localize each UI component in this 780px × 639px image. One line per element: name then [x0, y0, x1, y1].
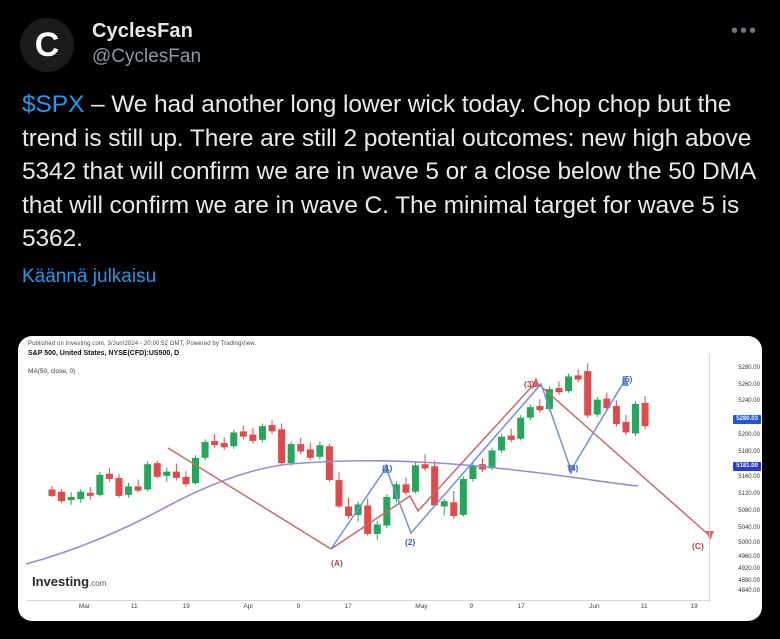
- date-tick-label: 19: [690, 603, 697, 610]
- candle-body: [97, 475, 103, 494]
- candle-body: [202, 443, 208, 458]
- candle-body: [87, 493, 93, 495]
- tweet-header: C CyclesFan @CyclesFan •••: [0, 0, 780, 72]
- candle-body: [106, 474, 112, 478]
- date-axis[interactable]: Mar1119Apr917May917Jun1119: [18, 603, 710, 617]
- date-tick-label: Mar: [79, 603, 90, 610]
- wave-label: (3): [524, 379, 534, 389]
- candle-body: [183, 477, 189, 483]
- translate-post-link[interactable]: Käännä julkaisu: [0, 256, 780, 288]
- wave-label: (A): [331, 558, 343, 568]
- candle-body: [585, 372, 591, 415]
- candle-body: [212, 441, 218, 444]
- candle-body: [78, 492, 84, 498]
- candle-body: [250, 435, 256, 440]
- chart-image[interactable]: Published on Investing.com, 3/Jun/2024 -…: [18, 336, 762, 621]
- candle-body: [326, 447, 332, 480]
- display-name[interactable]: CyclesFan: [92, 20, 731, 43]
- candle-body: [116, 478, 122, 495]
- candle-body: [173, 472, 179, 477]
- wave-label: (4): [568, 463, 578, 473]
- candle-body: [279, 430, 285, 463]
- candle-body: [403, 485, 409, 492]
- cashtag-link[interactable]: $SPX: [22, 91, 84, 118]
- tweet-body-text: – We had another long lower wick today. …: [22, 91, 755, 252]
- avatar[interactable]: C: [20, 18, 74, 72]
- investing-watermark: Investing.com: [32, 574, 106, 589]
- date-tick-label: 11: [641, 603, 648, 610]
- candle-body: [221, 444, 227, 447]
- candle-body: [508, 436, 514, 439]
- price-axis[interactable]: 5280.005260.005240.005280.035200.005180.…: [710, 358, 762, 596]
- price-tick-label: 5181.00: [733, 462, 761, 471]
- price-tick-label: 5080.00: [738, 508, 760, 515]
- candle-body: [441, 502, 447, 506]
- candle-body: [451, 503, 457, 516]
- wave-label: (C): [692, 541, 704, 551]
- candle-body: [594, 400, 600, 414]
- candle-body: [365, 506, 371, 534]
- date-tick-label: 17: [517, 603, 524, 610]
- candle-body: [566, 377, 572, 391]
- date-tick-label: 9: [469, 603, 473, 610]
- candle-body: [575, 376, 581, 379]
- candle-body: [527, 408, 533, 418]
- price-tick-label: 4840.00: [738, 588, 760, 595]
- candle-body: [259, 427, 265, 440]
- price-tick-label: 5240.00: [738, 398, 760, 405]
- tweet-card: C CyclesFan @CyclesFan ••• $SPX – We had…: [0, 0, 780, 639]
- date-tick-label: 9: [296, 603, 300, 610]
- date-tick-label: 17: [344, 603, 351, 610]
- candle-body: [307, 450, 313, 457]
- wave-label: (5): [622, 374, 632, 384]
- candle-body: [269, 426, 275, 431]
- candle-body: [432, 467, 438, 505]
- price-tick-label: 5000.00: [738, 540, 760, 547]
- candle-series: [49, 363, 648, 540]
- date-tick-label: Apr: [243, 603, 253, 610]
- price-tick-label: 5040.00: [738, 525, 760, 532]
- author-names: CyclesFan @CyclesFan: [92, 18, 731, 68]
- date-tick-label: May: [415, 603, 427, 610]
- price-tick-label: 5280.03: [733, 415, 761, 424]
- chart-published-line: Published on Investing.com, 3/Jun/2024 -…: [28, 341, 256, 347]
- candle-body: [231, 433, 237, 446]
- impulse-wave-path: [331, 380, 625, 549]
- candle-body: [145, 465, 151, 489]
- price-tick-label: 5160.00: [738, 474, 760, 481]
- price-tick-label: 5280.00: [738, 365, 760, 372]
- candle-body: [518, 418, 524, 438]
- candle-body: [489, 451, 495, 468]
- price-tick-label: 4960.00: [738, 554, 760, 561]
- candle-body: [346, 507, 352, 515]
- price-tick-label: 4880.00: [738, 578, 760, 585]
- date-axis-divider: [26, 600, 710, 601]
- candle-body: [135, 487, 141, 490]
- candlestick-chart-svg: [18, 336, 762, 621]
- candle-body: [336, 481, 342, 506]
- date-tick-label: 11: [131, 603, 138, 610]
- date-tick-label: 19: [183, 603, 190, 610]
- candle-body: [374, 525, 380, 533]
- candle-body: [59, 492, 65, 500]
- chart-symbol-line: S&P 500, United States, NYSE(CFD):US500,…: [28, 350, 256, 357]
- candle-body: [154, 464, 160, 477]
- price-tick-label: 4920.00: [738, 566, 760, 573]
- candle-body: [537, 407, 543, 410]
- candle-body: [470, 466, 476, 479]
- chart-meta: Published on Investing.com, 3/Jun/2024 -…: [28, 341, 256, 375]
- watermark-text: Investing: [32, 574, 89, 589]
- candle-body: [240, 432, 246, 436]
- more-options-icon[interactable]: •••: [731, 18, 764, 43]
- candle-body: [499, 437, 505, 450]
- candle-body: [613, 407, 619, 424]
- candle-body: [413, 466, 419, 491]
- candle-body: [126, 487, 132, 494]
- corrective-wave-path: [168, 382, 710, 549]
- candle-body: [192, 458, 198, 482]
- candle-body: [68, 498, 74, 500]
- candle-body: [633, 404, 639, 433]
- date-tick-label: Jun: [589, 603, 599, 610]
- wave-label: (1): [382, 463, 392, 473]
- chart-indicator-label: MA(50, close, 0): [28, 368, 256, 375]
- candle-body: [298, 445, 304, 451]
- candle-body: [642, 403, 648, 425]
- candle-body: [317, 446, 323, 457]
- handle[interactable]: @CyclesFan: [92, 46, 731, 68]
- candle-body: [556, 389, 562, 392]
- price-tick-label: 5120.00: [738, 491, 760, 498]
- candle-body: [288, 445, 294, 463]
- price-tick-label: 5200.00: [738, 432, 760, 439]
- candle-body: [460, 480, 466, 515]
- price-tick-label: 5260.00: [738, 382, 760, 389]
- candle-body: [422, 465, 428, 468]
- candle-body: [49, 490, 55, 495]
- candle-body: [623, 422, 629, 432]
- watermark-suffix: .com: [89, 579, 106, 588]
- candle-body: [164, 472, 170, 475]
- price-tick-label: 5180.00: [738, 449, 760, 456]
- wave-label: (2): [405, 537, 415, 547]
- avatar-letter: C: [35, 28, 60, 62]
- tweet-text: $SPX – We had another long lower wick to…: [0, 72, 780, 256]
